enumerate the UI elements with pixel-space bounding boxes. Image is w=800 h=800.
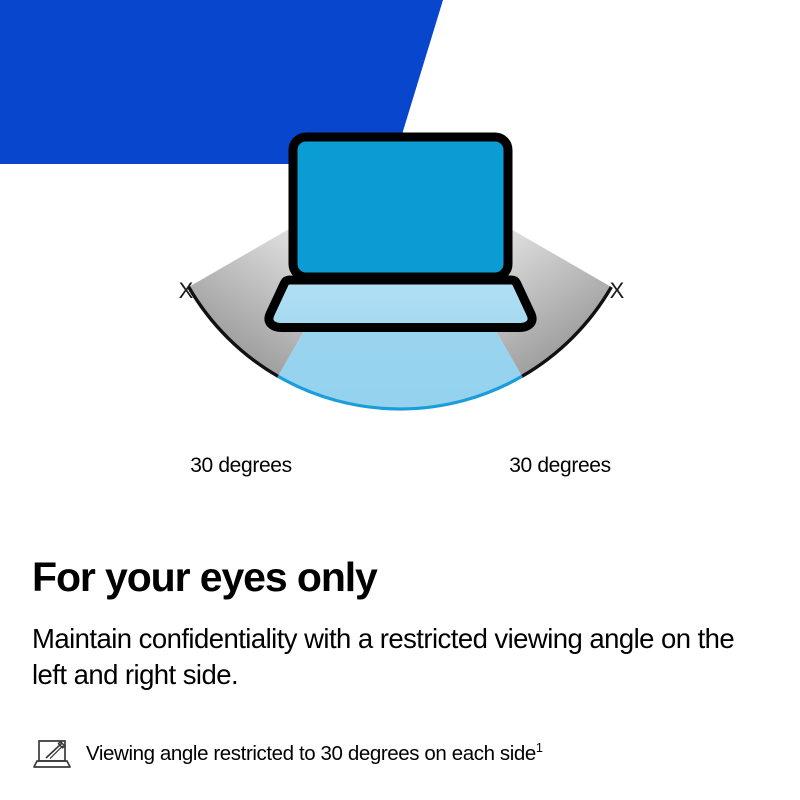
right-angle-label: 30 degrees — [509, 454, 611, 477]
left-angle-label: 30 degrees — [190, 454, 292, 477]
page-title: For your eyes only — [32, 556, 768, 599]
footnote-label: Viewing angle restricted to 30 degrees o… — [86, 742, 536, 765]
hero-illustration: X X 30 degrees 30 degrees — [0, 0, 800, 500]
laptop-screen — [293, 137, 508, 277]
marketing-card: X X 30 degrees 30 degrees For your eyes … — [0, 0, 800, 800]
footnote-row: Viewing angle restricted to 30 degrees o… — [32, 736, 543, 772]
left-blocked-x-marker: X — [179, 278, 194, 303]
footnote-text: Viewing angle restricted to 30 degrees o… — [86, 742, 543, 767]
laptop-base — [269, 280, 532, 328]
copy-block: For your eyes only Maintain confidential… — [32, 556, 768, 694]
laptop-privacy-icon — [32, 736, 72, 772]
footnote-marker: 1 — [536, 740, 543, 755]
right-blocked-x-marker: X — [610, 278, 625, 303]
subtitle-text: Maintain confidentiality with a restrict… — [32, 621, 744, 694]
